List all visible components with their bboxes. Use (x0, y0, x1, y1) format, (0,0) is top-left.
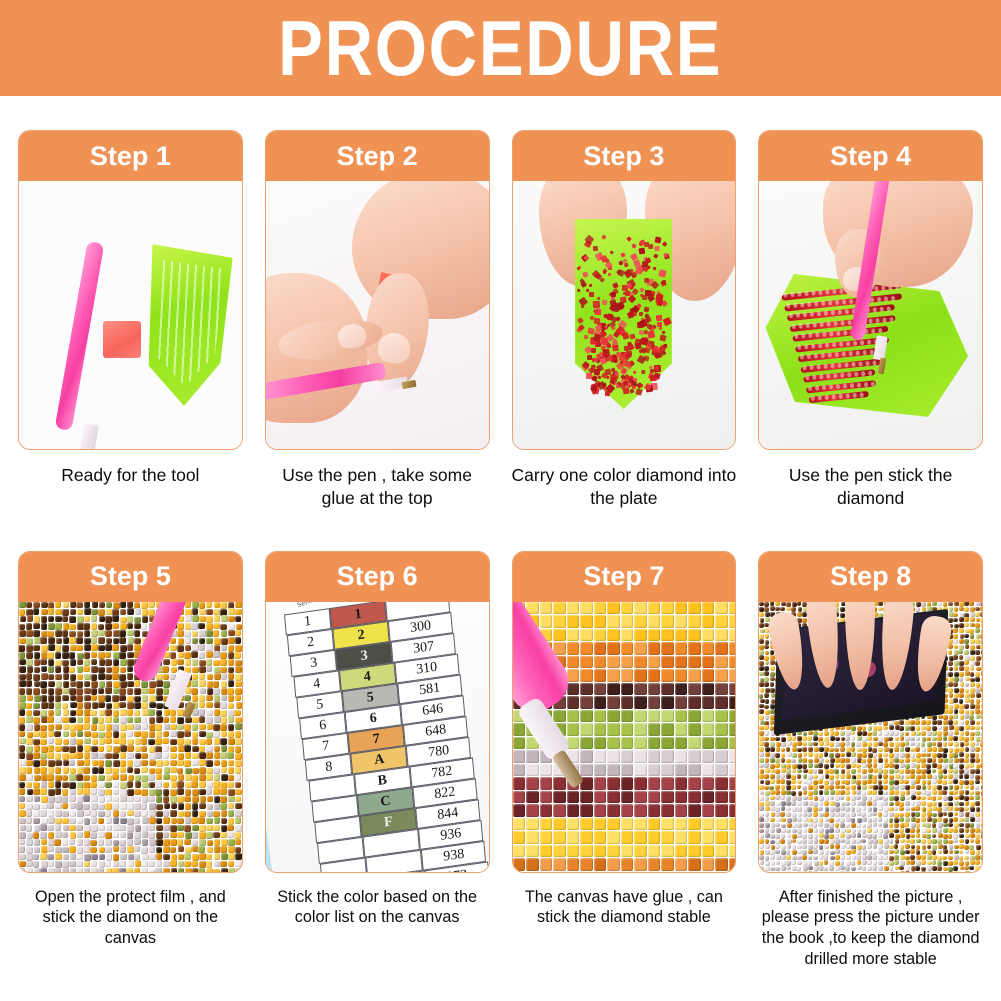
step-1-header: Step 1 (19, 131, 242, 181)
step-1-label: Step 1 (90, 143, 171, 170)
step-4-image (759, 181, 982, 449)
step-6-header: Step 6 (266, 552, 489, 602)
step-4-caption: Use the pen stick the diamond (758, 464, 983, 511)
step-1-card: Step 1 (18, 130, 243, 450)
step-5-header: Step 5 (19, 552, 242, 602)
step-4-header: Step 4 (759, 131, 982, 181)
sunflower-mosaic-icon (19, 602, 242, 872)
step-7-label: Step 7 (583, 563, 664, 590)
step-card-2: Step 2 (265, 130, 490, 511)
step-5-caption: Open the protect film , and stick the di… (18, 887, 243, 949)
scene-pick-diamond (759, 181, 982, 449)
glue-square-icon (103, 321, 141, 358)
step-3-card: Step 3 (512, 130, 737, 450)
step-5-image (19, 602, 242, 872)
steps-row-2: Step 5 Open the protect film , and stick… (0, 551, 1001, 970)
step-card-4: Step 4 Use the pen st (758, 130, 983, 511)
step-8-card: Step 8 (758, 551, 983, 873)
step-8-label: Step 8 (830, 563, 911, 590)
step-card-6: Step 6 SerialSymbolDMC112230033307443105… (265, 551, 490, 970)
step-card-8: Step 8 After finished the picture , plea… (758, 551, 983, 970)
color-list-table: SerialSymbolDMC1122300333074431055581666… (266, 602, 489, 872)
step-2-header: Step 2 (266, 131, 489, 181)
step-2-caption: Use the pen , take some glue at the top (265, 464, 490, 511)
step-6-label: Step 6 (337, 563, 418, 590)
step-7-header: Step 7 (513, 552, 736, 602)
hands-icon (767, 602, 949, 696)
page-banner: PROCEDURE (0, 0, 1001, 96)
step-card-5: Step 5 Open the protect film , and stick… (18, 551, 243, 970)
step-2-image (266, 181, 489, 449)
scene-pour-diamonds (513, 181, 736, 449)
step-card-3: Step 3 Carry one color diamond into the … (512, 130, 737, 511)
step-3-label: Step 3 (583, 143, 664, 170)
step-6-card: Step 6 SerialSymbolDMC112230033307443105… (265, 551, 490, 873)
step-7-caption: The canvas have glue , can stick the dia… (512, 887, 737, 928)
scene-tools (19, 181, 242, 449)
step-3-header: Step 3 (513, 131, 736, 181)
step-4-card: Step 4 (758, 130, 983, 450)
step-6-image: SerialSymbolDMC1122300333074431055581666… (266, 602, 489, 872)
step-card-7: Step 7 The canvas have glue , can stick … (512, 551, 737, 970)
step-2-card: Step 2 (265, 130, 490, 450)
step-7-image (513, 602, 736, 872)
red-diamonds-icon (577, 231, 669, 396)
step-6-caption: Stick the color based on the color list … (265, 887, 490, 928)
step-1-caption: Ready for the tool (18, 464, 243, 487)
step-5-card: Step 5 (18, 551, 243, 873)
step-2-label: Step 2 (337, 143, 418, 170)
pen-white-tip-icon (78, 423, 99, 449)
step-8-caption: After finished the picture , please pres… (758, 887, 983, 970)
steps-row-1: Step 1 Ready for the tool (0, 130, 1001, 511)
step-3-caption: Carry one color diamond into the plate (512, 464, 737, 511)
step-card-1: Step 1 Ready for the tool (18, 130, 243, 511)
step-1-image (19, 181, 242, 449)
scene-dip-glue (266, 181, 489, 449)
steps-grid: Step 1 Ready for the tool (0, 130, 1001, 969)
pink-pen-icon (55, 241, 105, 431)
step-4-label: Step 4 (830, 143, 911, 170)
step-8-image (759, 602, 982, 872)
step-5-label: Step 5 (90, 563, 171, 590)
page-title: PROCEDURE (278, 9, 722, 87)
step-3-image (513, 181, 736, 449)
step-7-card: Step 7 (512, 551, 737, 873)
step-8-header: Step 8 (759, 552, 982, 602)
